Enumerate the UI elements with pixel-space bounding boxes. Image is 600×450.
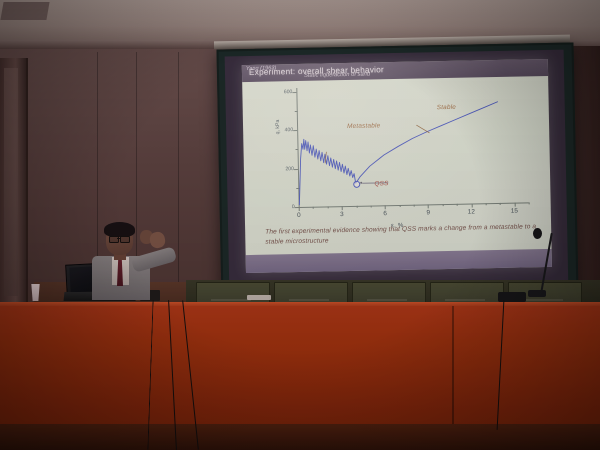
slide-caption: The first experimental evidence showing … (265, 222, 537, 248)
ceiling-vent (0, 2, 49, 20)
annotation-qss: QSS (374, 180, 388, 187)
slide-footer-bar (246, 249, 552, 273)
door-frame (0, 58, 28, 303)
presenter-glasses (120, 236, 130, 243)
annotation-metastable: Metastable (347, 122, 380, 130)
annotation-stable: Stable (437, 104, 456, 111)
microphone-base (528, 290, 546, 297)
projection-screen-frame: Experiment: overall shear behavior 02004… (217, 42, 579, 301)
chair-slot (523, 299, 563, 301)
stage-front-panel (0, 306, 600, 426)
chair-slot (367, 299, 407, 301)
photo-scene: Experiment: overall shear behavior 02004… (0, 0, 600, 450)
projection-screen: Experiment: overall shear behavior 02004… (225, 50, 569, 293)
wall-panel-seam (178, 52, 179, 302)
presentation-slide: Experiment: overall shear behavior 02004… (242, 59, 552, 273)
chair-slot (211, 299, 251, 301)
chair-slot (289, 299, 329, 301)
chart-curve (268, 83, 532, 215)
presenter-glasses-bridge (117, 238, 120, 239)
door-panel (4, 68, 18, 296)
desk-device (247, 295, 271, 300)
desk-device (498, 292, 526, 302)
chair-slot (445, 299, 485, 301)
stage-panel-seam (452, 306, 454, 426)
floor (0, 424, 600, 450)
microphone-head (533, 228, 542, 239)
chart: 0200400600 03691215 q, kPa ε, % Metastab… (268, 83, 532, 215)
presenter-hair (104, 222, 135, 237)
slide-footer-citation: Yang (1963) (246, 65, 276, 72)
